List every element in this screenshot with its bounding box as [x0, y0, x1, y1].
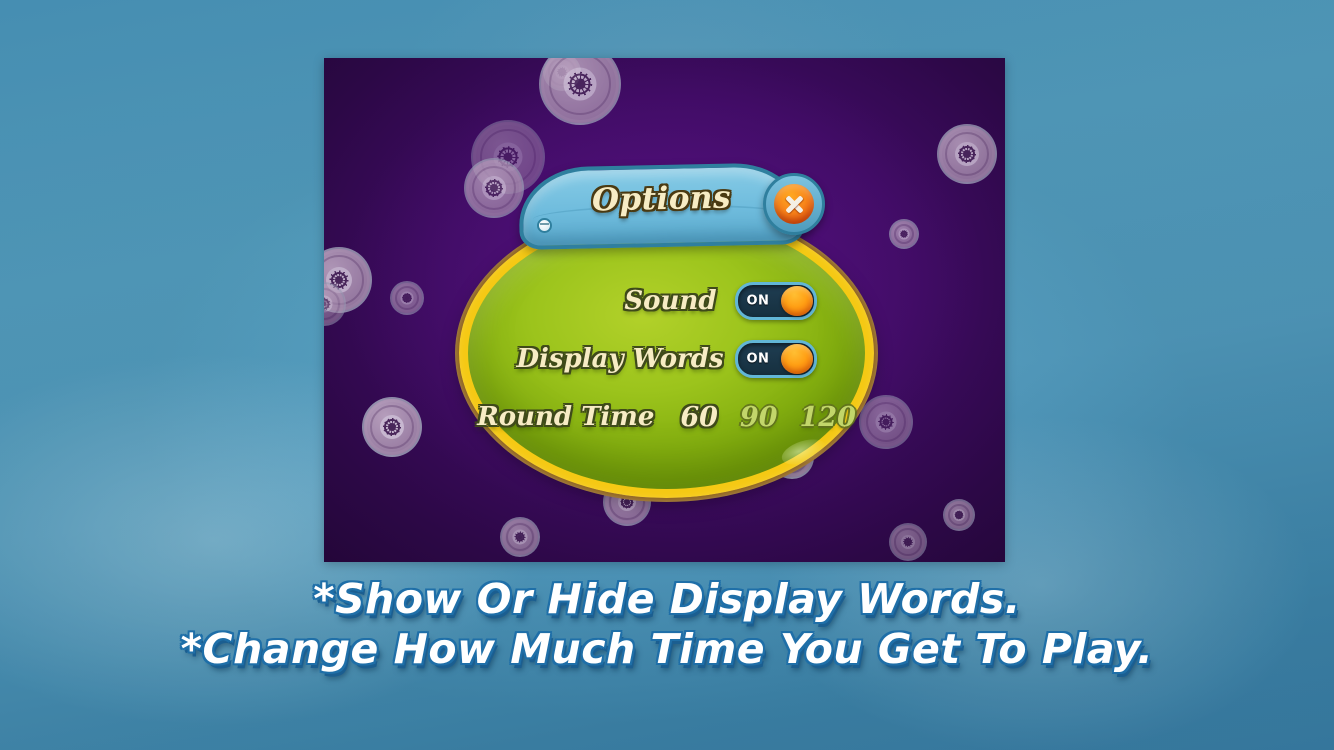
gear-decoration	[943, 499, 975, 531]
dialog-title-banner: Options	[519, 165, 804, 247]
settings-rows: Sound ON Display Words ON Round Time 609…	[459, 272, 874, 446]
options-dialog: Options Sound ON Display Words ON	[459, 208, 874, 498]
round-time-option-60[interactable]: 60	[680, 402, 718, 433]
caption-block: *Show Or Hide Display Words. *Change How…	[0, 574, 1334, 674]
gear-spokes	[380, 415, 404, 439]
round-time-option-120[interactable]: 120	[800, 402, 856, 433]
caption-line-2: *Change How Much Time You Get To Play.	[0, 624, 1334, 674]
gear-decoration	[362, 397, 422, 457]
display-words-toggle-knob	[781, 344, 813, 374]
gear-decoration	[889, 219, 919, 249]
gear-spokes	[564, 68, 597, 101]
setting-label-display-words: Display Words	[517, 344, 735, 374]
gear-spokes	[482, 176, 506, 200]
gear-spokes	[901, 535, 915, 549]
display-words-toggle[interactable]: ON	[735, 340, 817, 378]
setting-label-sound: Sound	[517, 286, 735, 316]
close-button-knob	[774, 184, 814, 224]
sound-toggle[interactable]: ON	[735, 282, 817, 320]
sound-toggle-knob	[781, 286, 813, 316]
setting-row-round-time: Round Time 6090120	[459, 388, 874, 446]
round-time-options: 6090120	[680, 402, 856, 433]
gear-spokes	[876, 412, 897, 433]
sound-toggle-state-label: ON	[747, 294, 770, 309]
gear-decoration	[500, 517, 540, 557]
gear-spokes	[401, 292, 414, 305]
setting-row-display-words: Display Words ON	[459, 330, 874, 388]
setting-row-sound: Sound ON	[459, 272, 874, 330]
round-time-option-90[interactable]: 90	[740, 402, 778, 433]
banner-screw-icon	[537, 218, 552, 233]
gear-spokes	[513, 530, 528, 545]
close-button[interactable]	[763, 173, 825, 235]
page-title: Options	[519, 178, 805, 220]
display-words-toggle-state-label: ON	[747, 352, 770, 367]
game-screen-panel: Options Sound ON Display Words ON	[324, 58, 1005, 562]
caption-line-1: *Show Or Hide Display Words.	[0, 574, 1334, 624]
gear-decoration	[937, 124, 997, 184]
gear-decoration	[390, 281, 424, 315]
gear-spokes	[899, 229, 910, 240]
setting-label-round-time: Round Time	[477, 402, 680, 432]
gear-decoration	[889, 523, 927, 561]
gear-spokes	[953, 509, 965, 521]
close-icon	[783, 193, 805, 215]
gear-spokes	[955, 142, 979, 166]
